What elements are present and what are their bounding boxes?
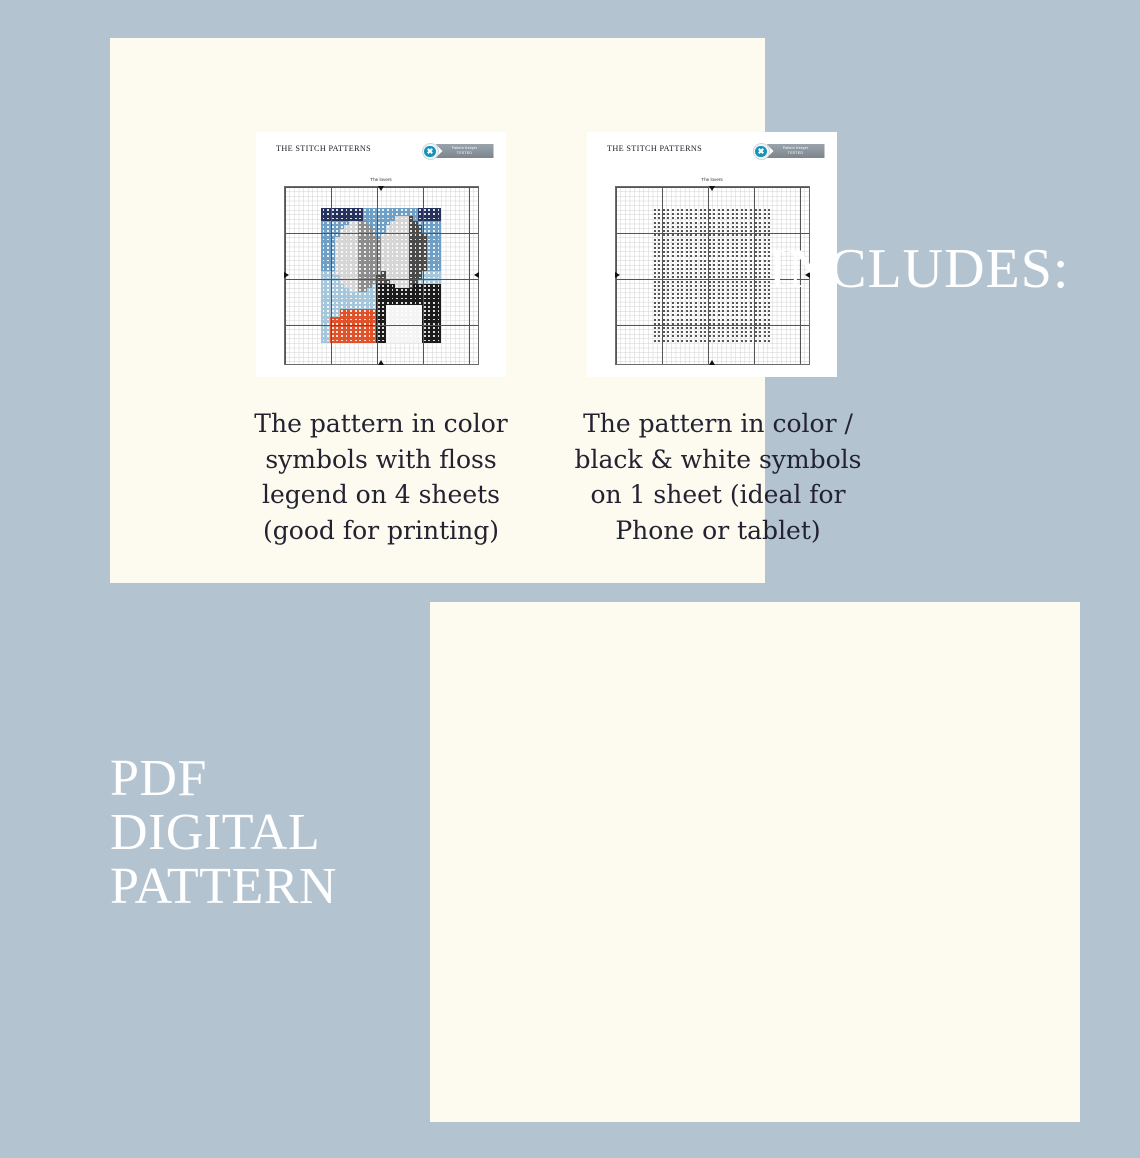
color-chart: The lovers bbox=[284, 186, 479, 365]
sheet-brand-title: THE STITCH PATTERNS bbox=[276, 144, 371, 153]
badge-line1: Pattern Keeper bbox=[442, 147, 488, 150]
chart-label: The lovers bbox=[615, 177, 810, 182]
pdf-line-1: PDF bbox=[110, 752, 337, 806]
top-panel: THE STITCH PATTERNS Pattern Keeper TESTE… bbox=[110, 38, 765, 583]
badge-line2: TESTED bbox=[442, 152, 488, 156]
bottom-panel: THE STITCH PATTERNS Pattern Keeper TESTE… bbox=[430, 602, 1080, 1122]
center-arrow-right bbox=[474, 272, 479, 278]
pattern-sheet-color[interactable]: THE STITCH PATTERNS Pattern Keeper TESTE… bbox=[256, 132, 506, 377]
badge-line1: Pattern Keeper bbox=[773, 147, 819, 150]
pattern-keeper-badge: Pattern Keeper TESTED ✖ bbox=[422, 143, 494, 160]
caption-card-2: The pattern in color / black & white sym… bbox=[573, 406, 863, 548]
pdf-line-2: DIGITAL bbox=[110, 806, 337, 860]
sheet-brand-title: THE STITCH PATTERNS bbox=[607, 144, 702, 153]
center-arrow-left bbox=[615, 272, 620, 278]
center-arrow-left bbox=[284, 272, 289, 278]
pdf-line-3: PATTERN bbox=[110, 860, 337, 914]
pdf-digital-pattern-heading: PDF DIGITAL PATTERN bbox=[110, 752, 337, 914]
chart-grid bbox=[284, 186, 479, 365]
center-arrow-bottom bbox=[378, 360, 384, 365]
chart-label: The lovers bbox=[284, 177, 479, 182]
center-arrow-top bbox=[709, 186, 715, 191]
badge-line2: TESTED bbox=[773, 152, 819, 156]
chart-grid-heavy bbox=[285, 187, 478, 364]
caption-card-1: The pattern in color symbols with floss … bbox=[242, 406, 520, 548]
center-arrow-bottom bbox=[709, 360, 715, 365]
center-arrow-top bbox=[378, 186, 384, 191]
poster-root: THE STITCH PATTERNS Pattern Keeper TESTE… bbox=[0, 0, 1140, 1158]
pattern-keeper-badge: Pattern Keeper TESTED ✖ bbox=[753, 143, 825, 160]
x-seal-icon: ✖ bbox=[753, 143, 770, 160]
includes-heading: INCLUDES: bbox=[768, 237, 1069, 301]
x-seal-icon: ✖ bbox=[422, 143, 439, 160]
